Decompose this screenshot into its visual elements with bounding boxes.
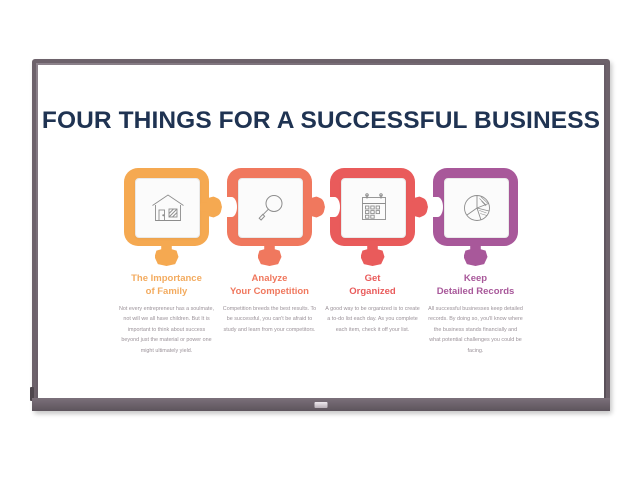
magnifier-icon <box>255 192 287 224</box>
icon-card-1 <box>135 178 200 238</box>
puzzle-piece-1-wrap <box>115 168 218 246</box>
calendar-icon <box>358 192 390 224</box>
column-heading-3: Get Organized <box>323 273 422 298</box>
column-body-3: A good way to be organized is to create … <box>323 304 422 335</box>
monitor-bottom-bezel <box>32 398 610 411</box>
icon-card-4 <box>444 178 509 238</box>
puzzle-notch-2 <box>226 197 237 217</box>
puzzle-piece-family[interactable] <box>124 168 209 246</box>
puzzle-knob-3 <box>406 197 428 218</box>
column-heading-2: Analyze Your Competition <box>220 273 319 298</box>
page-title: FOUR THINGS FOR A SUCCESSFUL BUSINESS <box>38 107 604 135</box>
column-body-2: Competition breeds the best results. To … <box>220 304 319 335</box>
column-heading-4: Keep Detailed Records <box>426 273 525 298</box>
text-column-2: Analyze Your Competition Competition bre… <box>218 273 321 335</box>
puzzle-knob-1 <box>200 197 222 218</box>
puzzle-piece-records[interactable] <box>433 168 518 246</box>
column-heading-3-line1: Get <box>323 273 422 286</box>
pie-chart-icon <box>461 192 493 224</box>
puzzle-piece-organized[interactable] <box>330 168 415 246</box>
monitor: FOUR THINGS FOR A SUCCESSFUL BUSINESS <box>32 59 610 411</box>
column-heading-2-line1: Analyze <box>220 273 319 286</box>
puzzle-notch-3 <box>329 197 340 217</box>
puzzle-piece-competition[interactable] <box>227 168 312 246</box>
puzzle-notch-4 <box>432 197 443 217</box>
presentation-slide: FOUR THINGS FOR A SUCCESSFUL BUSINESS <box>38 65 604 399</box>
icon-card-3 <box>341 178 406 238</box>
house-icon <box>151 193 185 223</box>
text-column-row: The Importance of Family Not every entre… <box>115 273 527 356</box>
screenshot-root: FOUR THINGS FOR A SUCCESSFUL BUSINESS <box>0 0 640 480</box>
icon-card-2 <box>238 178 303 238</box>
column-heading-1: The Importance of Family <box>117 273 216 298</box>
puzzle-knob-2 <box>303 197 325 218</box>
column-heading-2-line2: Your Competition <box>220 286 319 299</box>
text-column-4: Keep Detailed Records All successful bus… <box>424 273 527 356</box>
column-heading-4-line1: Keep <box>426 273 525 286</box>
monitor-brand-logo <box>315 402 328 408</box>
puzzle-piece-row <box>115 168 527 246</box>
text-column-3: Get Organized A good way to be organized… <box>321 273 424 335</box>
column-body-4: All successful businesses keep detailed … <box>426 304 525 356</box>
column-heading-1-line1: The Importance <box>117 273 216 286</box>
column-heading-3-line2: Organized <box>323 286 422 299</box>
puzzle-piece-4-wrap <box>424 168 527 246</box>
column-heading-4-line2: Detailed Records <box>426 286 525 299</box>
column-body-1: Not every entrepreneur has a soulmate, n… <box>117 304 216 356</box>
puzzle-piece-2-wrap <box>218 168 321 246</box>
puzzle-piece-3-wrap <box>321 168 424 246</box>
column-heading-1-line2: of Family <box>117 286 216 299</box>
monitor-screen: FOUR THINGS FOR A SUCCESSFUL BUSINESS <box>38 65 604 399</box>
text-column-1: The Importance of Family Not every entre… <box>115 273 218 356</box>
